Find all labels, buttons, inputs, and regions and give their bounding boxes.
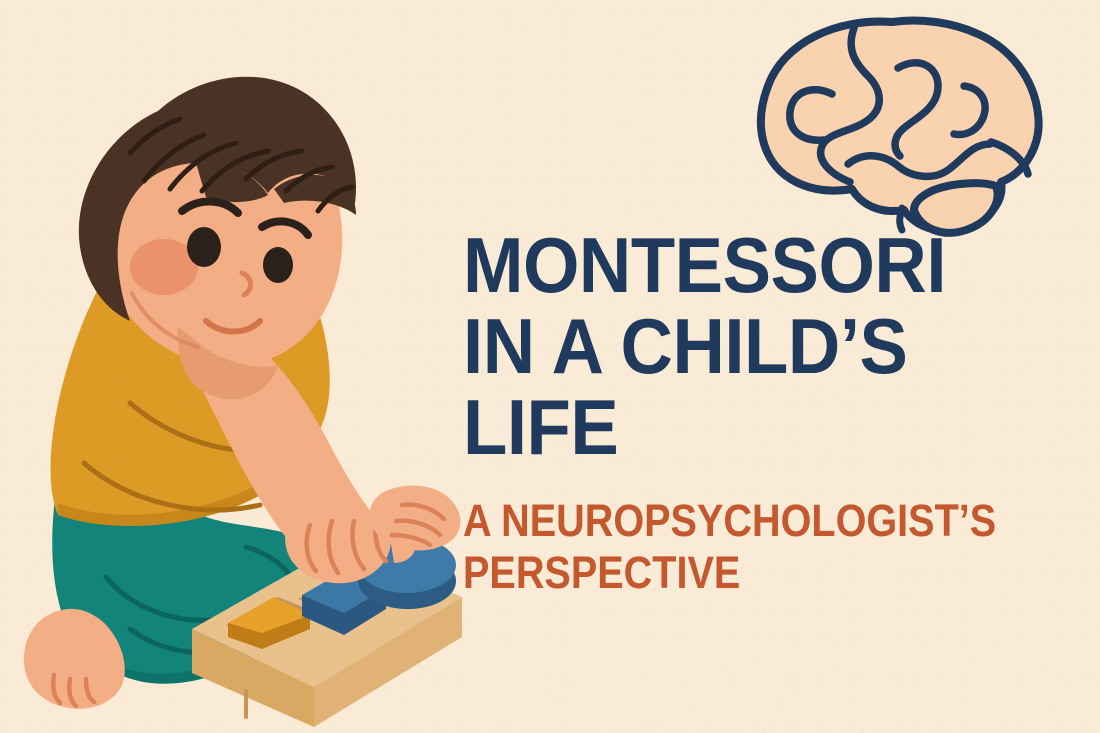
headline-line-1: MONTESSORI — [463, 228, 1021, 303]
subtitle-block: A NEUROPSYCHOLOGIST’S PERSPECTIVE — [463, 495, 1063, 599]
text-block: MONTESSORI IN A CHILD’S LIFE A NEUROPSYC… — [463, 228, 1063, 599]
subtitle-line-1: A NEUROPSYCHOLOGIST’S — [463, 495, 991, 547]
left-eye — [187, 227, 221, 267]
brain-illustration — [742, 14, 1052, 239]
child-illustration — [10, 25, 480, 733]
poster-canvas: MONTESSORI IN A CHILD’S LIFE A NEUROPSYC… — [0, 0, 1100, 733]
subtitle-line-2: PERSPECTIVE — [463, 547, 991, 599]
right-eye — [263, 247, 293, 283]
headline-line-2: IN A CHILD’S — [463, 309, 1021, 384]
headline-line-3: LIFE — [463, 390, 1021, 465]
brain-body — [761, 21, 1039, 233]
